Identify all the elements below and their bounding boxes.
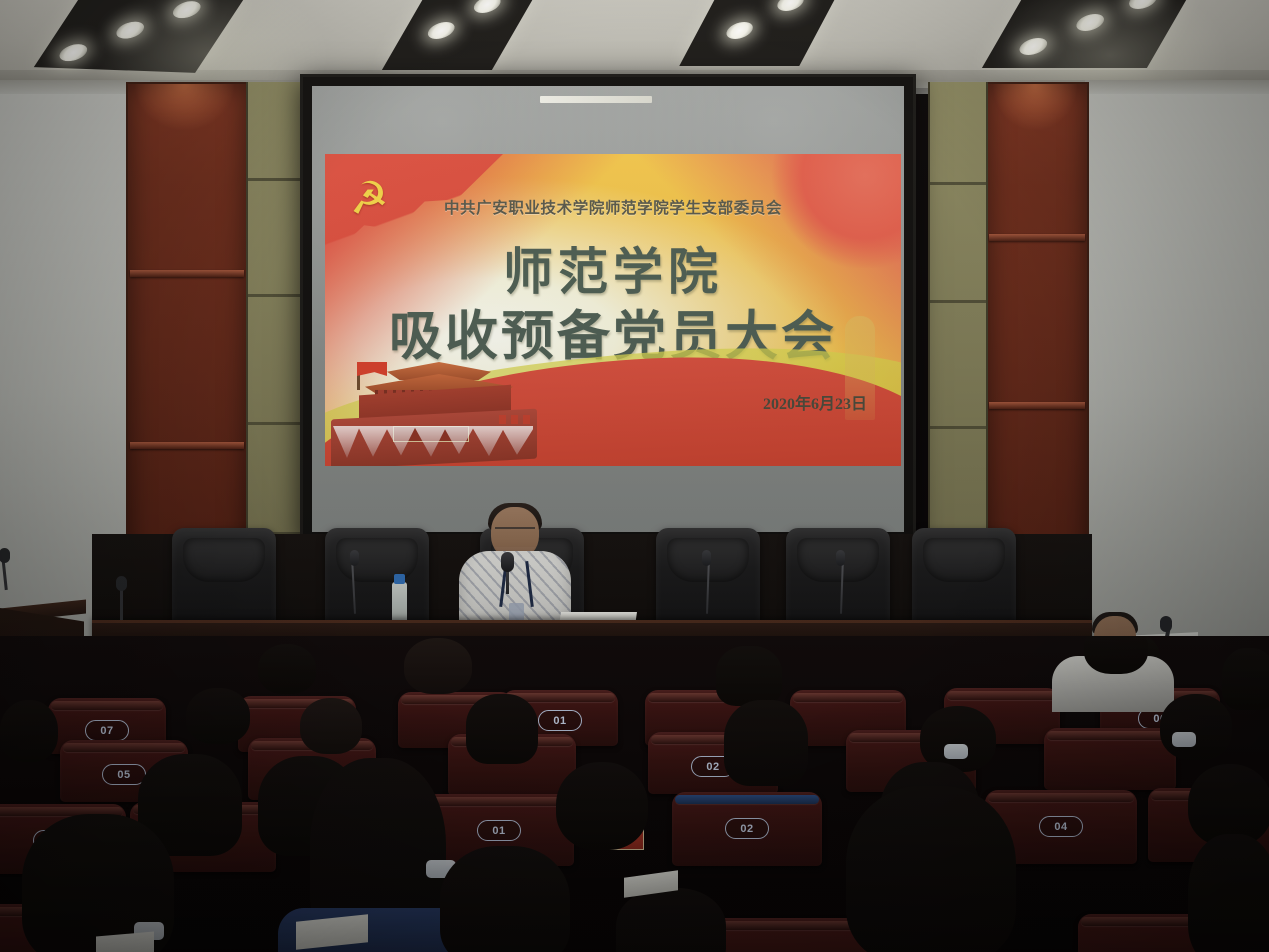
slide-organization-line: 中共广安职业技术学院师范学院学生支部委员会 [325, 196, 901, 218]
executive-chair [325, 528, 429, 624]
panel-seam [248, 294, 306, 297]
executive-chair [172, 528, 276, 624]
ceiling-light-bulb [424, 22, 459, 39]
tiananmen-illustration [331, 352, 547, 464]
mini-flag-icon [511, 415, 518, 424]
microphone-head-icon [116, 576, 127, 591]
seated-speaker [455, 505, 575, 635]
seat-rail [427, 797, 571, 806]
screen-top-light-reflection [540, 96, 652, 103]
bottle-cap [394, 574, 405, 584]
audience-head [556, 762, 648, 850]
panel-seam [248, 422, 306, 425]
panel-seam [130, 270, 244, 277]
ceiling-light-bulb [773, 0, 807, 11]
panel-seam [130, 442, 244, 449]
panel-highlight [135, 84, 234, 130]
panel-seam [930, 426, 986, 429]
panel-seam [248, 178, 306, 181]
face-mask-icon [1172, 732, 1196, 747]
audience-head [0, 700, 58, 762]
panel-highlight [993, 84, 1077, 130]
panel-seam [930, 182, 986, 185]
microphone-head-icon [836, 550, 845, 566]
ceiling-light-bulb [112, 21, 149, 39]
microphone-head-icon [0, 548, 10, 563]
audience-seat: 02 [672, 792, 822, 866]
audience-head [724, 700, 808, 786]
glasses-icon [495, 527, 535, 538]
ceiling-light-bulb [1125, 0, 1161, 9]
podium-microphone [120, 586, 123, 620]
seat-rail [947, 691, 1057, 700]
seat-rail [675, 795, 819, 804]
audience-head [404, 638, 472, 694]
presentation-slide: ☭ 中共广安职业技术学院师范学院学生支部委员会 师范学院 吸收预备党员大会 [325, 154, 901, 466]
seat-rail [793, 693, 903, 702]
audience-head [1084, 636, 1148, 674]
ceiling-light-bulb [169, 1, 206, 19]
executive-chair [912, 528, 1016, 624]
audience-head-foreground [616, 888, 726, 952]
audience-head-foreground [846, 786, 1016, 952]
slide-date: 2020年6月23日 [763, 390, 867, 414]
ceiling-light-bulb [1016, 38, 1052, 55]
seat-rail [988, 793, 1134, 802]
screen-surface: ☭ 中共广安职业技术学院师范学院学生支部委员会 师范学院 吸收预备党员大会 [312, 86, 904, 532]
audience-head [300, 698, 362, 754]
microphone-head-icon [350, 550, 359, 566]
audience-head [258, 644, 316, 694]
audience-head [1160, 694, 1232, 760]
ceiling-light-bulb [722, 22, 756, 39]
microphone-head-icon [501, 552, 514, 572]
audience-seat [1044, 728, 1176, 790]
seat-number-badge: 02 [725, 818, 769, 839]
audience-head [1222, 648, 1269, 710]
audience-head-foreground [440, 846, 570, 952]
audience-area: 07 01 06 [0, 636, 1269, 952]
panel-seam [989, 402, 1085, 409]
ceiling-light-bulb [1073, 14, 1109, 31]
mini-flag-icon [523, 415, 530, 424]
seat-number-badge: 07 [85, 720, 129, 741]
seat-number-badge: 01 [538, 710, 582, 731]
audience-head [716, 646, 782, 706]
microphone-head-icon [1160, 616, 1172, 632]
red-flag-icon [357, 362, 387, 376]
audience-head [186, 688, 250, 744]
panel-seam [989, 234, 1085, 241]
panel-seam [930, 300, 986, 303]
ceiling-light-bulb [470, 0, 505, 13]
ceiling-light-bulb [55, 44, 92, 62]
seat-rail [63, 743, 185, 752]
seat-number-badge: 01 [477, 820, 521, 841]
projection-screen: ☭ 中共广安职业技术学院师范学院学生支部委员会 师范学院 吸收预备党员大会 [300, 74, 916, 544]
face-mask-icon [944, 744, 968, 759]
mini-flag-icon [499, 415, 506, 424]
seat-rail [51, 701, 163, 710]
microphone-head-icon [702, 550, 711, 566]
seat-number-badge: 04 [1039, 816, 1083, 837]
auditorium-photo: ☭ 中共广安职业技术学院师范学院学生支部委员会 师范学院 吸收预备党员大会 [0, 0, 1269, 952]
wall-right [1085, 80, 1269, 640]
executive-chair [786, 528, 890, 624]
audience-head-foreground [1188, 834, 1269, 952]
seat-number-badge: 05 [102, 764, 146, 785]
seat-rail [1047, 731, 1173, 740]
audience-head [466, 694, 538, 764]
